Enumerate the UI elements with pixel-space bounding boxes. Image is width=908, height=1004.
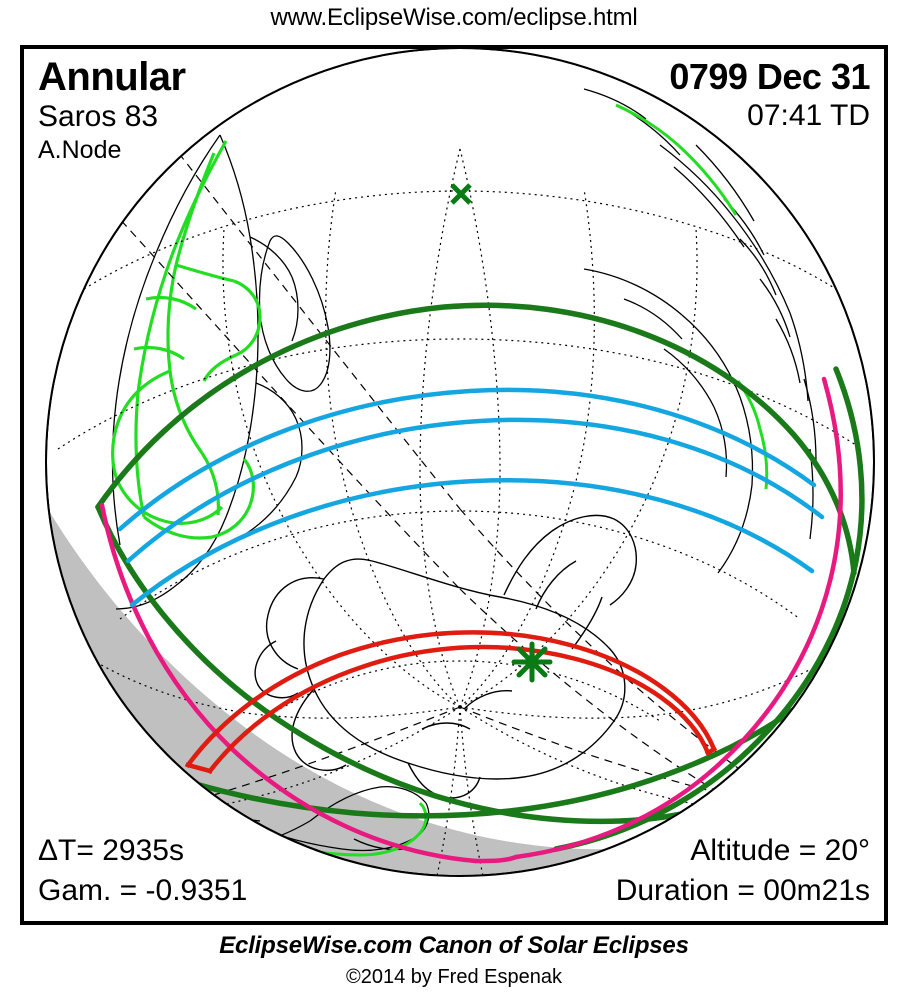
eclipse-type-label: Annular [38, 57, 186, 99]
copyright-line: ©2014 by Fred Espenak [0, 966, 908, 989]
eclipse-date-label: 0799 Dec 31 [669, 57, 870, 97]
footer-right-block: Altitude = 20° Duration = 00m21s [616, 831, 870, 911]
globe-map [24, 49, 884, 921]
node-label: A.Node [38, 135, 186, 166]
footer-left-block: ΔT= 2935s Gam. = -0.9351 [38, 831, 247, 911]
saros-label: Saros 83 [38, 99, 186, 136]
header-right-block: 0799 Dec 31 07:41 TD [669, 57, 870, 135]
delta-t-value: ΔT= 2935s [38, 831, 247, 871]
eclipse-map-page: www.EclipseWise.com/eclipse.html [0, 0, 908, 1004]
source-url: www.EclipseWise.com/eclipse.html [0, 4, 908, 32]
gamma-value: Gam. = -0.9351 [38, 871, 247, 911]
header-left-block: Annular Saros 83 A.Node [38, 57, 186, 166]
duration-value: Duration = 00m21s [616, 871, 870, 911]
eclipse-time-label: 07:41 TD [669, 97, 870, 135]
greatest-eclipse-marker [514, 644, 550, 680]
altitude-value: Altitude = 20° [616, 831, 870, 871]
eclipse-diagram-frame: Annular Saros 83 A.Node 0799 Dec 31 07:4… [20, 45, 888, 925]
credits-block: EclipseWise.com Canon of Solar Eclipses … [0, 932, 908, 989]
canon-title: EclipseWise.com Canon of Solar Eclipses [0, 932, 908, 960]
